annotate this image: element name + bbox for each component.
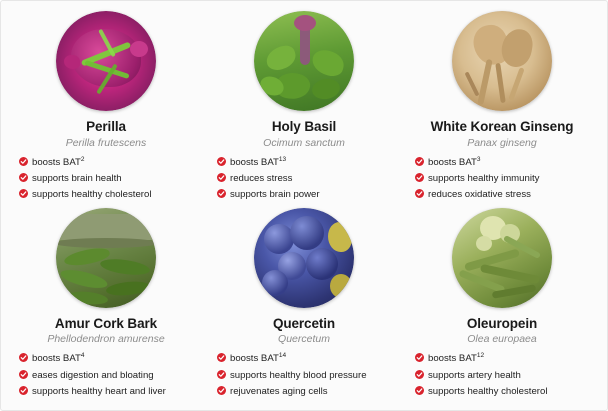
check-icon bbox=[19, 157, 28, 166]
ingredient-latin-name: Perilla frutescens bbox=[66, 137, 147, 149]
ingredient-card-white-korean-ginseng: White Korean Ginseng Panax ginseng boost… bbox=[403, 11, 601, 208]
ingredients-panel: Perilla Perilla frutescens boosts BAT2 s… bbox=[0, 0, 608, 411]
check-icon bbox=[217, 370, 226, 379]
benefit-item: supports brain power bbox=[217, 188, 395, 201]
ingredient-grid: Perilla Perilla frutescens boosts BAT2 s… bbox=[1, 1, 607, 410]
benefit-text: reduces oxidative stress bbox=[428, 189, 531, 200]
ingredient-latin-name: Panax ginseng bbox=[467, 137, 536, 149]
benefit-item: supports healthy blood pressure bbox=[217, 369, 395, 382]
benefit-item: reduces stress bbox=[217, 172, 395, 185]
benefit-item: supports artery health bbox=[415, 369, 593, 382]
ingredient-card-oleuropein: Oleuropein Olea europaea boosts BAT12 su… bbox=[403, 208, 601, 405]
benefit-item: supports healthy heart and liver bbox=[19, 385, 197, 398]
ingredient-title: Quercetin bbox=[273, 317, 335, 332]
benefit-footnote: 4 bbox=[81, 352, 85, 359]
benefit-text: supports artery health bbox=[428, 370, 521, 381]
benefit-item: boosts BAT14 bbox=[217, 352, 395, 365]
check-icon bbox=[19, 386, 28, 395]
benefit-item: reduces oxidative stress bbox=[415, 188, 593, 201]
check-icon bbox=[217, 353, 226, 362]
benefit-text: supports healthy blood pressure bbox=[230, 370, 367, 381]
ingredient-latin-name: Olea europaea bbox=[467, 333, 536, 345]
benefit-item: boosts BAT3 bbox=[415, 156, 593, 169]
benefit-item: rejuvenates aging cells bbox=[217, 385, 395, 398]
check-icon bbox=[415, 370, 424, 379]
benefit-text: boosts BAT bbox=[230, 354, 279, 365]
check-icon bbox=[19, 370, 28, 379]
ingredient-title: Amur Cork Bark bbox=[55, 317, 157, 332]
check-icon bbox=[415, 157, 424, 166]
benefit-list: boosts BAT4 eases digestion and bloating… bbox=[15, 352, 197, 401]
benefit-footnote: 14 bbox=[279, 352, 286, 359]
benefit-text: supports healthy heart and liver bbox=[32, 386, 166, 397]
check-icon bbox=[19, 173, 28, 182]
benefit-list: boosts BAT3 supports healthy immunity re… bbox=[411, 156, 593, 205]
check-icon bbox=[217, 189, 226, 198]
amur-cork-bark-photo bbox=[56, 208, 156, 308]
benefit-text: supports brain power bbox=[230, 189, 320, 200]
benefit-list: boosts BAT14 supports healthy blood pres… bbox=[213, 352, 395, 401]
ingredient-latin-name: Phellodendron amurense bbox=[47, 333, 164, 345]
benefit-text: boosts BAT bbox=[428, 354, 477, 365]
oleuropein-olive-photo bbox=[452, 208, 552, 308]
benefit-text: supports healthy cholesterol bbox=[32, 189, 151, 200]
check-icon bbox=[217, 173, 226, 182]
benefit-item: eases digestion and bloating bbox=[19, 369, 197, 382]
benefit-list: boosts BAT12 supports artery health supp… bbox=[411, 352, 593, 401]
check-icon bbox=[415, 353, 424, 362]
benefit-item: supports healthy cholesterol bbox=[415, 385, 593, 398]
ingredient-latin-name: Quercetum bbox=[278, 333, 330, 345]
check-icon bbox=[19, 353, 28, 362]
benefit-text: reduces stress bbox=[230, 173, 292, 184]
benefit-item: supports healthy cholesterol bbox=[19, 188, 197, 201]
ingredient-title: Oleuropein bbox=[467, 317, 537, 332]
benefit-item: boosts BAT13 bbox=[217, 156, 395, 169]
benefit-text: supports healthy cholesterol bbox=[428, 386, 547, 397]
white-korean-ginseng-root-photo bbox=[452, 11, 552, 111]
ingredient-card-holy-basil: Holy Basil Ocimum sanctum boosts BAT13 r… bbox=[205, 11, 403, 208]
benefit-footnote: 12 bbox=[477, 352, 484, 359]
ingredient-card-amur-cork-bark: Amur Cork Bark Phellodendron amurense bo… bbox=[7, 208, 205, 405]
ingredient-title: Holy Basil bbox=[272, 120, 336, 135]
benefit-list: boosts BAT2 supports brain health suppor… bbox=[15, 156, 197, 205]
benefit-list: boosts BAT13 reduces stress supports bra… bbox=[213, 156, 395, 205]
benefit-footnote: 2 bbox=[81, 156, 85, 163]
check-icon bbox=[415, 386, 424, 395]
benefit-item: boosts BAT2 bbox=[19, 156, 197, 169]
benefit-item: supports brain health bbox=[19, 172, 197, 185]
benefit-footnote: 3 bbox=[477, 156, 481, 163]
check-icon bbox=[415, 189, 424, 198]
benefit-text: supports healthy immunity bbox=[428, 173, 539, 184]
benefit-footnote: 13 bbox=[279, 156, 286, 163]
ingredient-title: Perilla bbox=[86, 120, 126, 135]
benefit-item: boosts BAT12 bbox=[415, 352, 593, 365]
ingredient-latin-name: Ocimum sanctum bbox=[263, 137, 345, 149]
ingredient-title: White Korean Ginseng bbox=[431, 120, 574, 135]
check-icon bbox=[217, 157, 226, 166]
benefit-text: boosts BAT bbox=[32, 157, 81, 168]
quercetin-berries-photo bbox=[254, 208, 354, 308]
benefit-text: eases digestion and bloating bbox=[32, 370, 154, 381]
benefit-text: rejuvenates aging cells bbox=[230, 386, 328, 397]
benefit-item: supports healthy immunity bbox=[415, 172, 593, 185]
benefit-text: boosts BAT bbox=[428, 157, 477, 168]
benefit-text: boosts BAT bbox=[32, 354, 81, 365]
benefit-text: supports brain health bbox=[32, 173, 122, 184]
check-icon bbox=[19, 189, 28, 198]
check-icon bbox=[217, 386, 226, 395]
perilla-leaf-photo bbox=[56, 11, 156, 111]
holy-basil-plant-photo bbox=[254, 11, 354, 111]
ingredient-card-perilla: Perilla Perilla frutescens boosts BAT2 s… bbox=[7, 11, 205, 208]
benefit-text: boosts BAT bbox=[230, 157, 279, 168]
benefit-item: boosts BAT4 bbox=[19, 352, 197, 365]
ingredient-card-quercetin: Quercetin Quercetum boosts BAT14 support… bbox=[205, 208, 403, 405]
check-icon bbox=[415, 173, 424, 182]
